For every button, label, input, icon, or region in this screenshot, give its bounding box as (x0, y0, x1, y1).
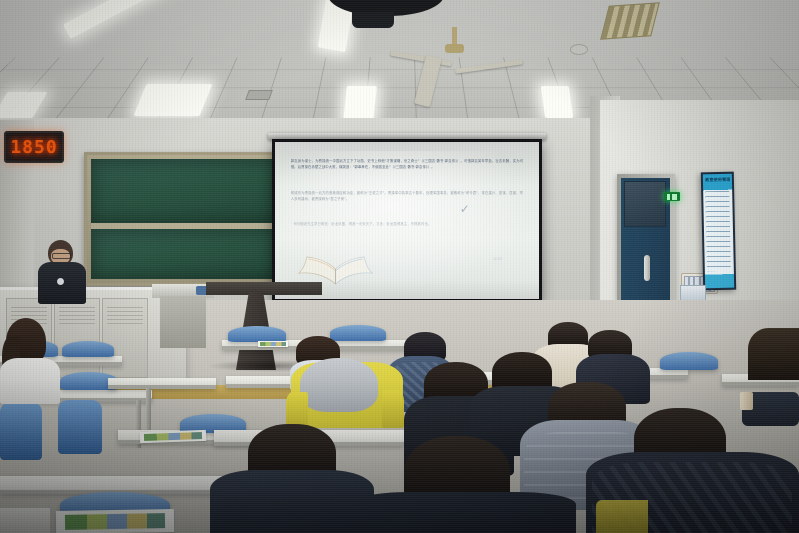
handout-flyer[interactable] (258, 341, 288, 347)
emergency-exit-sign (664, 192, 680, 201)
projector-lens-housing (352, 12, 394, 28)
chalkboard-lower-panel[interactable] (91, 229, 283, 279)
wall-plaque (680, 285, 706, 301)
running-man-icon (667, 194, 677, 200)
wall-notice-board: 教室使用管理规定 (701, 172, 736, 291)
chair[interactable] (228, 326, 286, 342)
desk-leg (146, 388, 151, 436)
chair-backrest[interactable] (58, 400, 102, 454)
door-handle[interactable] (644, 255, 650, 281)
digital-wall-clock: 1850 (4, 131, 64, 163)
slide-paragraph-3: 司马徽老先生早已明言：卧龙凤雏，得其一可安天下。又言：卧龙虽得其主，不得其时也。 (293, 221, 504, 227)
paper-cup[interactable] (740, 392, 753, 410)
ceiling-light-panel (63, 0, 175, 39)
smoke-detector-icon (570, 44, 588, 55)
ceiling-vent-grille (600, 2, 660, 39)
instructor-at-podium (38, 240, 88, 302)
check-mark-icon: ✓ (460, 202, 472, 216)
student-far-right (748, 328, 799, 380)
clock-digits: 1850 (10, 137, 57, 158)
slide-watermark: 2020 (493, 256, 502, 261)
cabinet-vent (107, 307, 144, 327)
lectern (160, 296, 206, 348)
instructor-badge (57, 278, 64, 285)
chair-backrest[interactable] (0, 402, 42, 460)
cabinet-door[interactable] (102, 298, 148, 378)
screen-surface: 郭嘉身为谋士，为曹操统一中国北方立下了功勋，史书上称他"才策谋略，世之奇士"（《… (275, 142, 539, 299)
student-yellow-trim (596, 500, 648, 533)
student-top (0, 358, 60, 404)
ceiling-light-panel (541, 86, 573, 118)
handout-flyer[interactable] (56, 509, 174, 533)
chair[interactable] (62, 341, 114, 357)
cabinet-vent (59, 307, 96, 327)
teacher-desk (206, 282, 322, 295)
desk[interactable] (108, 378, 216, 389)
ceiling-fan-hub (445, 44, 464, 53)
student-black-coat-foreground (350, 492, 576, 533)
ceiling-light-panel (343, 86, 377, 122)
projection-screen[interactable]: 郭嘉身为谋士，为曹操统一中国北方立下了功勋，史书上称他"才策谋略，世之奇士"（《… (272, 139, 542, 302)
slide-paragraph-2: 荀彧作为曹操统一北方的首席谋臣和功臣，被称为"王佐之才"。曹操军中执事达十数年，… (291, 190, 523, 203)
door-window (624, 181, 666, 227)
desk[interactable] (0, 508, 50, 533)
ceiling-light-panel (134, 84, 213, 116)
notice-board-text-lines (705, 191, 730, 271)
chair[interactable] (330, 325, 386, 341)
hoodie-hood (300, 358, 378, 412)
notice-board-title: 教室使用管理规定 (705, 177, 730, 187)
chalkboard-upper-panel[interactable] (91, 159, 283, 223)
ceiling-vent (245, 90, 273, 100)
glasses-icon (52, 253, 71, 259)
slide-paragraph-1: 郭嘉身为谋士，为曹操统一中国北方立下了功勋，史书上称他"才策谋略，世之奇士"（《… (291, 158, 523, 171)
green-chalkboard[interactable] (84, 152, 290, 286)
student-front-left (0, 318, 62, 398)
door-leaf[interactable] (621, 178, 670, 302)
hoodie-sleeve (382, 390, 404, 428)
chair[interactable] (660, 352, 718, 370)
classroom-photo: 1850 郭嘉身为谋士，为曹操统一中国北方立下了功勋，史书上称他"才策谋略，世之… (0, 0, 799, 533)
notice-board-face: 教室使用管理规定 (703, 174, 734, 289)
handout-flyer[interactable] (140, 430, 206, 443)
